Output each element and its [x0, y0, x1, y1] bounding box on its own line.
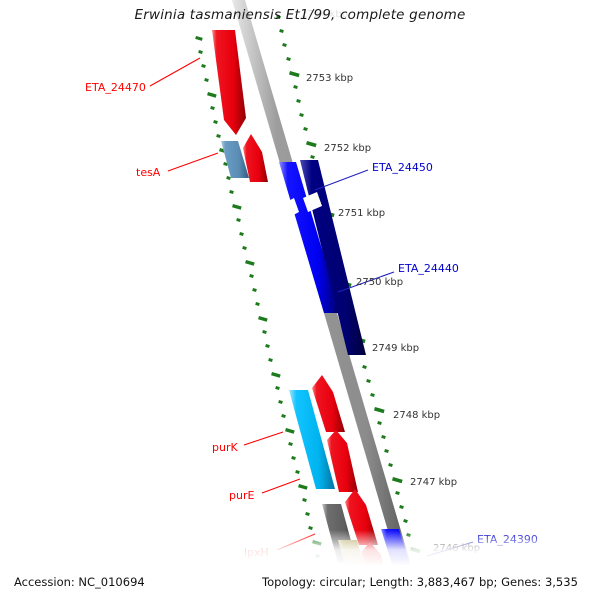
gene-label-purE[interactable]: purE — [229, 489, 254, 502]
gene-label-ETA_24470[interactable]: ETA_24470 — [85, 81, 146, 94]
gene-label-ETA_24440[interactable]: ETA_24440 — [398, 262, 459, 275]
accession-label: Accession: NC_010694 — [14, 575, 145, 589]
gene-label-tesA[interactable]: tesA — [136, 166, 160, 179]
gene-label-purK[interactable]: purK — [212, 441, 238, 454]
status-bar: Accession: NC_010694 Topology: circular;… — [0, 566, 600, 600]
genome-summary-label: Topology: circular; Length: 3,883,467 bp… — [262, 575, 578, 589]
ruler-tick-label-2746: 2746 kbp — [433, 543, 480, 554]
gene-feature-ETA_24470[interactable] — [212, 30, 246, 135]
genome-viewer: 2754 kbp 2753 kbp 2752 kbp 2751 kbp 2750… — [0, 0, 600, 600]
gene-label-ETA_24450[interactable]: ETA_24450 — [372, 161, 433, 174]
ruler-tick-label-2748: 2748 kbp — [393, 410, 440, 421]
page-title: Erwinia tasmaniensis Et1/99, complete ge… — [0, 7, 600, 23]
ruler-tick-label-2753: 2753 kbp — [306, 73, 353, 84]
ruler-tick-label-2752: 2752 kbp — [324, 143, 371, 154]
label-leaders-reverse — [150, 58, 315, 550]
ruler-tick-label-2747: 2747 kbp — [410, 477, 457, 488]
ruler-tick-label-2750: 2750 kbp — [356, 277, 403, 288]
gene-feature-red-lower-a[interactable] — [345, 489, 378, 545]
status-bar-divider — [0, 566, 600, 567]
ruler-tick-label-2749: 2749 kbp — [372, 343, 419, 354]
gene-label-ETA_24390[interactable]: ETA_24390 — [477, 533, 538, 546]
ruler-tick-label-2751: 2751 kbp — [338, 208, 385, 219]
gene-label-lpxH[interactable]: lpxH — [244, 546, 269, 559]
